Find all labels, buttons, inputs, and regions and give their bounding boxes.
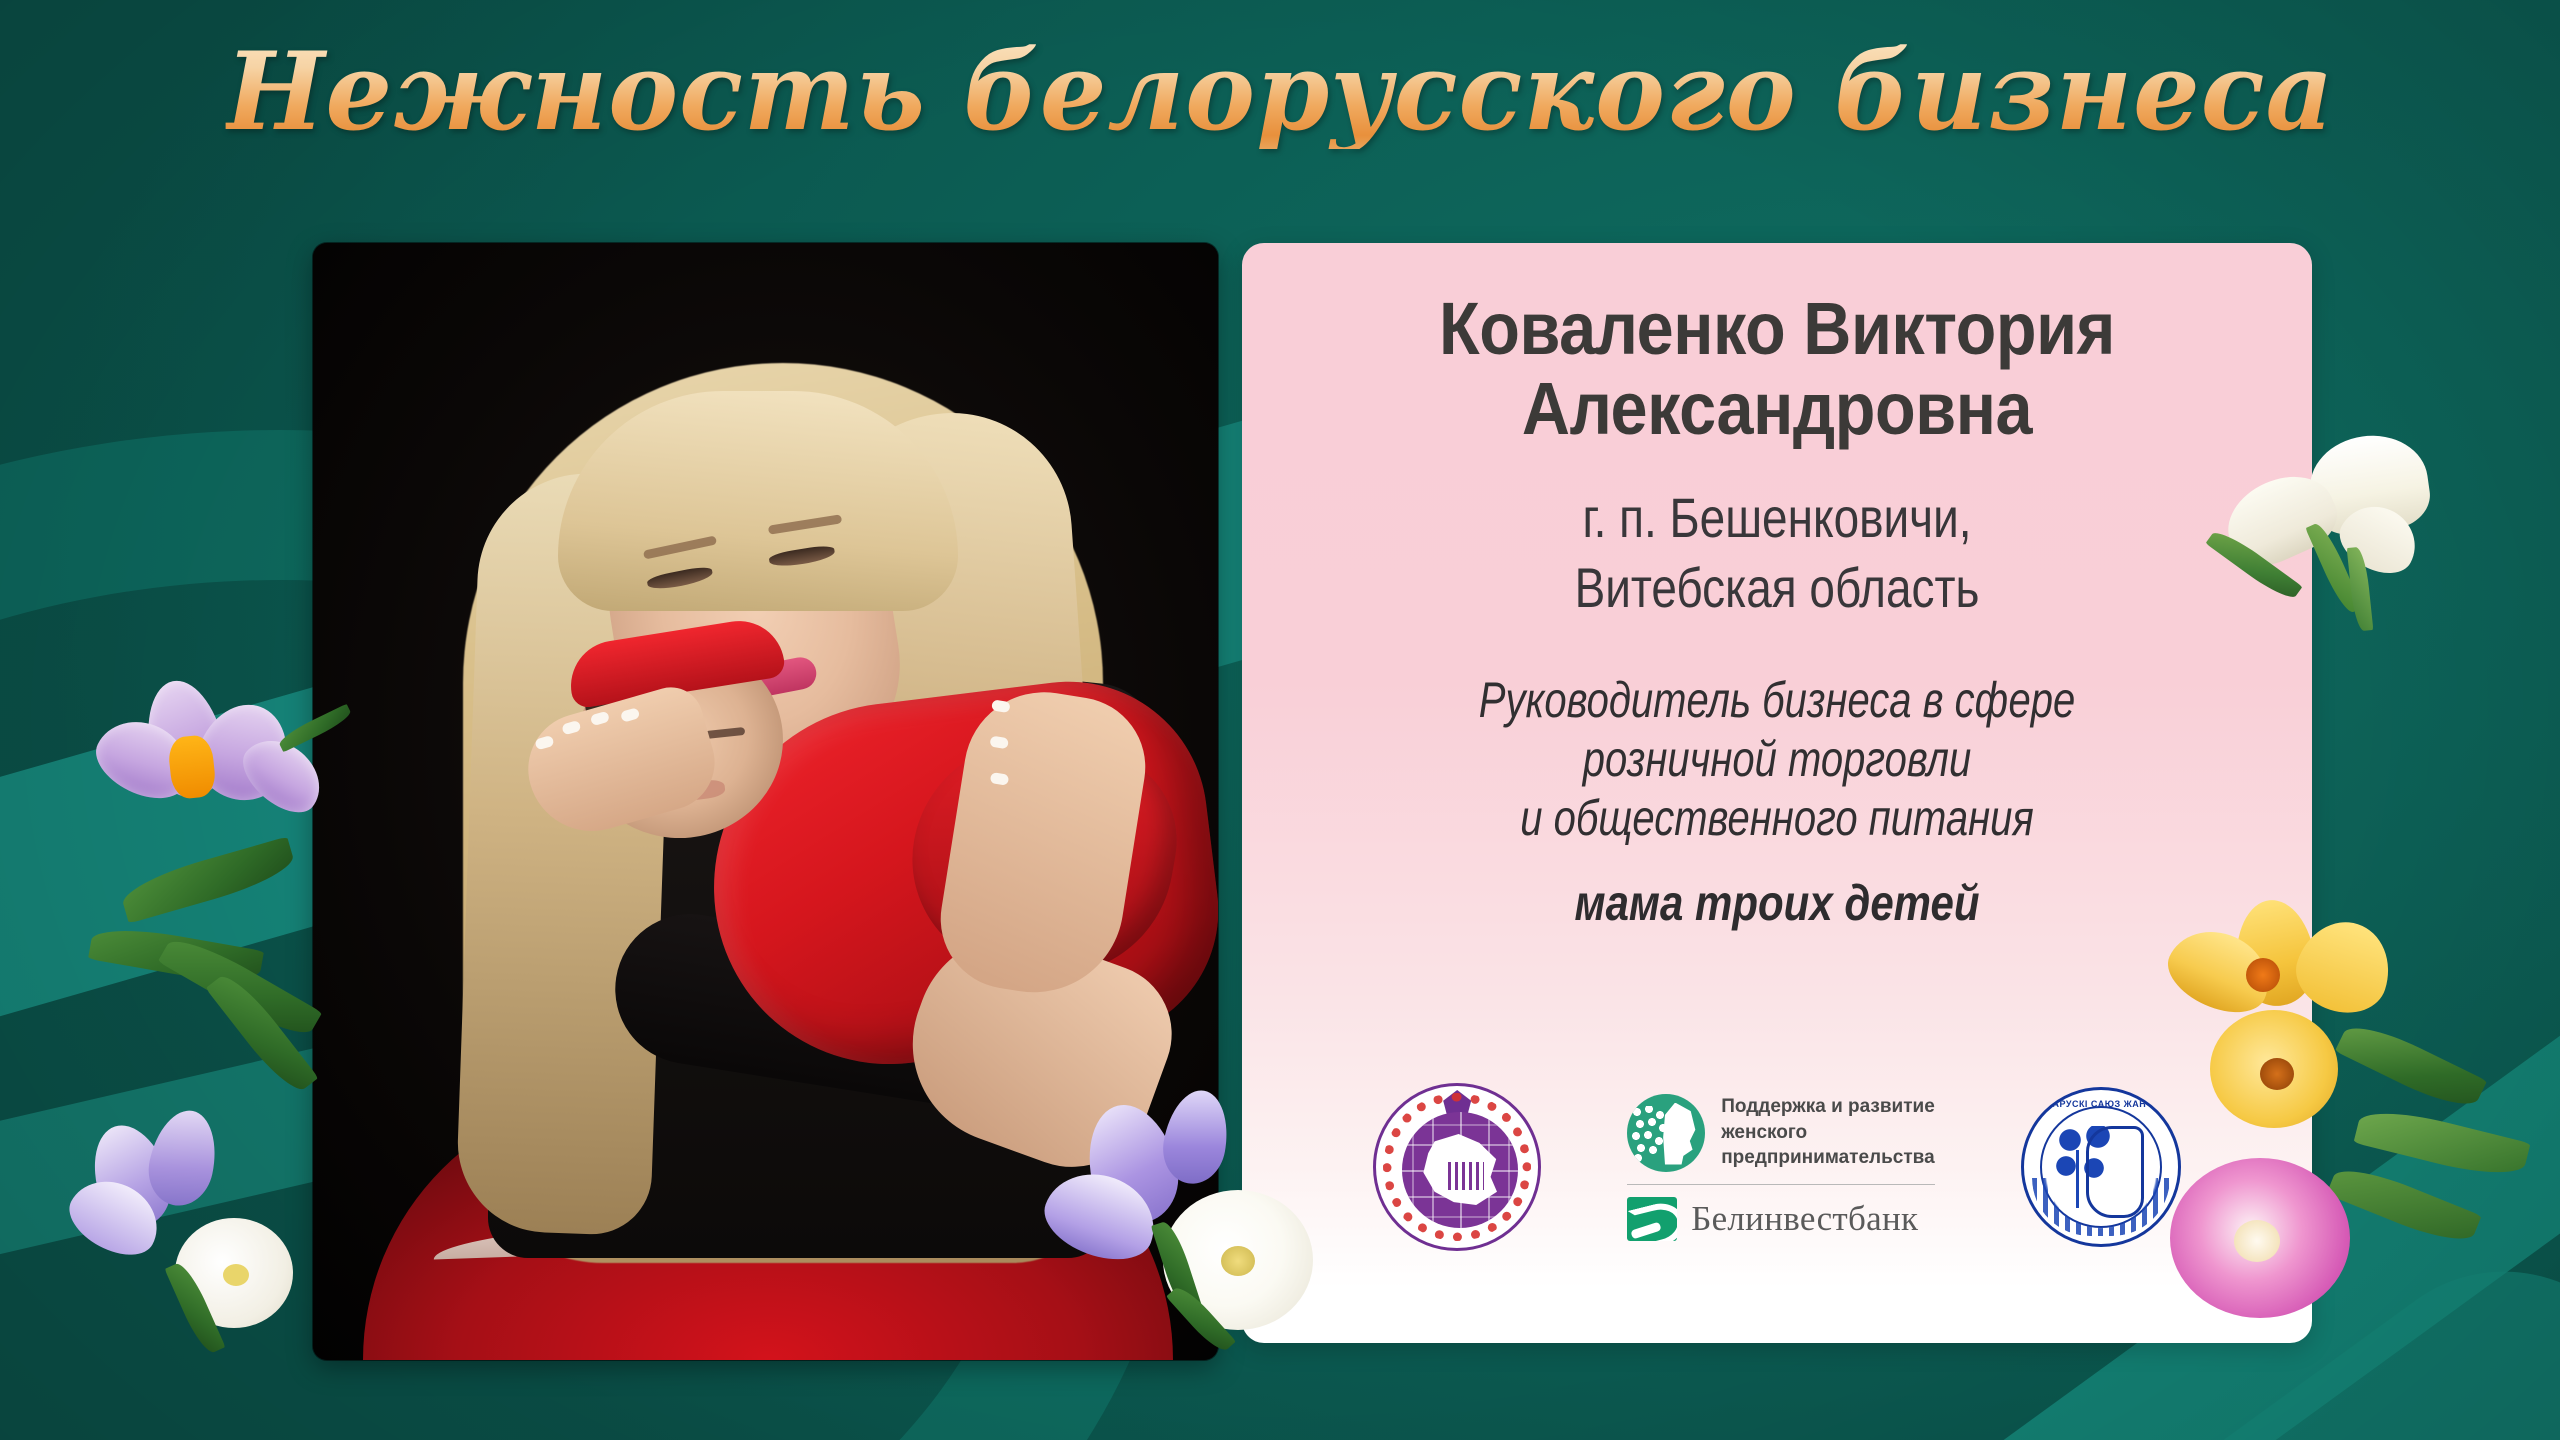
women-entrepreneurship-label: Поддержка и развитие женского предприним… xyxy=(1721,1094,1935,1170)
growth-chart-icon xyxy=(1448,1162,1484,1190)
logo-women-entrepreneurship-bank: Поддержка и развитие женского предприним… xyxy=(1627,1094,1935,1241)
woman-profile-icon xyxy=(1627,1094,1705,1172)
logo-ministry-of-economy xyxy=(1373,1083,1541,1251)
info-card-content: Коваленко Виктория Александровна г. п. Б… xyxy=(1242,243,2312,931)
women-entrepreneurship-block: Поддержка и развитие женского предприним… xyxy=(1627,1094,1935,1172)
bank-block: Белинвестбанк xyxy=(1627,1197,1935,1241)
belinvestbank-label: Белинвестбанк xyxy=(1691,1199,1918,1239)
mother-note: мама троих детей xyxy=(1370,876,2185,931)
ministry-of-economy-seal-icon xyxy=(1373,1083,1541,1251)
leaf-dots-icon xyxy=(1631,1106,1671,1162)
role-description: Руководитель бизнеса в сфере розничной т… xyxy=(1389,671,2165,848)
info-card: Коваленко Виктория Александровна г. п. Б… xyxy=(1242,243,2312,1343)
location-text: г. п. Бешенковичи, Витебская область xyxy=(1379,483,2174,623)
person-name: Коваленко Виктория Александровна xyxy=(1341,289,2214,449)
photo-nail xyxy=(590,711,610,727)
page-title: Нежность белорусского бизнеса xyxy=(226,36,2335,149)
photo-nail xyxy=(990,772,1009,786)
union-seal-ornament xyxy=(2032,1178,2170,1236)
photo-nail xyxy=(620,707,640,723)
logo-row: Поддержка и развитие женского предприним… xyxy=(1242,1083,2312,1251)
belarusian-union-of-women-seal-icon: БЕЛАРУСКІ САЮЗ ЖАНЧЫН xyxy=(2021,1087,2181,1247)
photo-nail xyxy=(991,699,1010,713)
belinvestbank-mark-icon xyxy=(1627,1197,1677,1241)
slide-title-container: Нежность белорусского бизнеса xyxy=(0,36,2560,149)
logo-belarusian-union-of-women: БЕЛАРУСКІ САЮЗ ЖАНЧЫН xyxy=(2021,1087,2181,1247)
logo-divider xyxy=(1627,1184,1935,1185)
photo-nail xyxy=(989,736,1008,750)
photo-nail xyxy=(534,735,554,751)
photo-nail xyxy=(561,720,581,736)
portrait-photo xyxy=(313,243,1218,1360)
